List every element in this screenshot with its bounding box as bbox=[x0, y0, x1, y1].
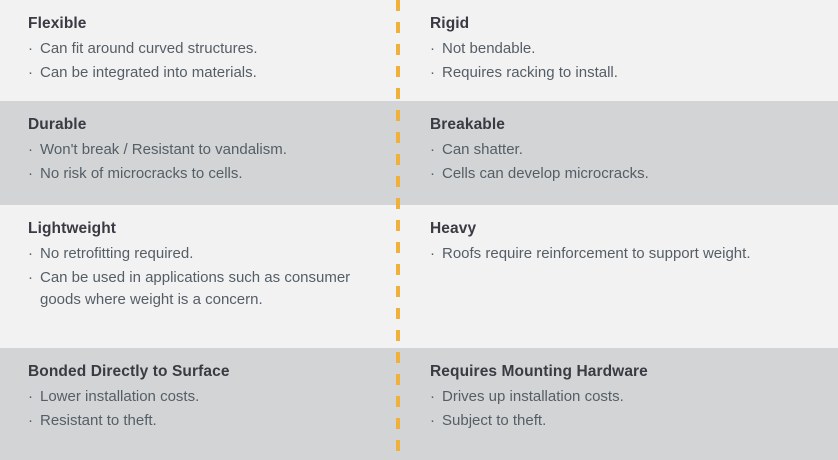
list-item-text: Can be integrated into materials. bbox=[40, 64, 257, 81]
bullet-list: ·Drives up installation costs. ·Subject … bbox=[430, 386, 814, 431]
list-item-text: Won't break / Resistant to vandalism. bbox=[40, 141, 287, 158]
list-item-text: Not bendable. bbox=[442, 40, 535, 57]
bullet-dot-icon: · bbox=[28, 139, 33, 161]
comparison-cell-left: Flexible ·Can fit around curved structur… bbox=[0, 0, 398, 101]
comparison-cell-left: Lightweight ·No retrofitting required. ·… bbox=[0, 205, 398, 348]
list-item: ·Lower installation costs. bbox=[28, 386, 376, 408]
comparison-table: Flexible ·Can fit around curved structur… bbox=[0, 0, 838, 460]
table-row: Bonded Directly to Surface ·Lower instal… bbox=[0, 348, 838, 460]
list-item-text: Subject to theft. bbox=[442, 412, 546, 429]
comparison-cell-left: Durable ·Won't break / Resistant to vand… bbox=[0, 101, 398, 205]
bullet-dot-icon: · bbox=[28, 38, 33, 60]
list-item: ·Drives up installation costs. bbox=[430, 386, 814, 408]
list-item: ·Subject to theft. bbox=[430, 410, 814, 432]
list-item: ·Can be integrated into materials. bbox=[28, 62, 376, 84]
bullet-dot-icon: · bbox=[28, 410, 33, 432]
bullet-dot-icon: · bbox=[430, 243, 435, 265]
list-item: ·Can fit around curved structures. bbox=[28, 38, 376, 60]
list-item-text: Can fit around curved structures. bbox=[40, 40, 258, 57]
bullet-list: ·Won't break / Resistant to vandalism. ·… bbox=[28, 139, 376, 184]
list-item: ·Won't break / Resistant to vandalism. bbox=[28, 139, 376, 161]
comparison-cell-right: Heavy ·Roofs require reinforcement to su… bbox=[398, 205, 838, 348]
list-item: ·Roofs require reinforcement to support … bbox=[430, 243, 814, 265]
bullet-list: ·No retrofitting required. ·Can be used … bbox=[28, 243, 376, 311]
list-item: ·Resistant to theft. bbox=[28, 410, 376, 432]
cell-title: Heavy bbox=[430, 219, 814, 238]
bullet-list: ·Can shatter. ·Cells can develop microcr… bbox=[430, 139, 814, 184]
list-item-text: Can be used in applications such as cons… bbox=[40, 269, 350, 308]
cell-title: Bonded Directly to Surface bbox=[28, 362, 376, 381]
list-item-text: Lower installation costs. bbox=[40, 388, 199, 405]
comparison-cell-right: Requires Mounting Hardware ·Drives up in… bbox=[398, 348, 838, 460]
list-item-text: No risk of microcracks to cells. bbox=[40, 165, 243, 182]
bullet-dot-icon: · bbox=[430, 139, 435, 161]
list-item: ·Requires racking to install. bbox=[430, 62, 814, 84]
table-row: Flexible ·Can fit around curved structur… bbox=[0, 0, 838, 101]
cell-title: Rigid bbox=[430, 14, 814, 33]
bullet-dot-icon: · bbox=[28, 243, 33, 265]
list-item: ·No risk of microcracks to cells. bbox=[28, 163, 376, 185]
bullet-dot-icon: · bbox=[430, 163, 435, 185]
bullet-dot-icon: · bbox=[430, 62, 435, 84]
list-item: ·Cells can develop microcracks. bbox=[430, 163, 814, 185]
bullet-dot-icon: · bbox=[28, 267, 33, 289]
comparison-cell-right: Rigid ·Not bendable. ·Requires racking t… bbox=[398, 0, 838, 101]
list-item-text: Drives up installation costs. bbox=[442, 388, 624, 405]
list-item: ·Not bendable. bbox=[430, 38, 814, 60]
bullet-dot-icon: · bbox=[28, 62, 33, 84]
list-item: ·No retrofitting required. bbox=[28, 243, 376, 265]
list-item: ·Can shatter. bbox=[430, 139, 814, 161]
bullet-list: ·Not bendable. ·Requires racking to inst… bbox=[430, 38, 814, 83]
list-item-text: Requires racking to install. bbox=[442, 64, 618, 81]
bullet-dot-icon: · bbox=[28, 386, 33, 408]
comparison-cell-right: Breakable ·Can shatter. ·Cells can devel… bbox=[398, 101, 838, 205]
bullet-dot-icon: · bbox=[28, 163, 33, 185]
list-item: ·Can be used in applications such as con… bbox=[28, 267, 376, 311]
list-item-text: Roofs require reinforcement to support w… bbox=[442, 245, 751, 262]
bullet-dot-icon: · bbox=[430, 38, 435, 60]
cell-title: Requires Mounting Hardware bbox=[430, 362, 814, 381]
bullet-dot-icon: · bbox=[430, 410, 435, 432]
list-item-text: Cells can develop microcracks. bbox=[442, 165, 649, 182]
bullet-dot-icon: · bbox=[430, 386, 435, 408]
list-item-text: Resistant to theft. bbox=[40, 412, 157, 429]
table-row: Lightweight ·No retrofitting required. ·… bbox=[0, 205, 838, 348]
cell-title: Lightweight bbox=[28, 219, 376, 238]
list-item-text: No retrofitting required. bbox=[40, 245, 193, 262]
cell-title: Durable bbox=[28, 115, 376, 134]
cell-title: Flexible bbox=[28, 14, 376, 33]
table-row: Durable ·Won't break / Resistant to vand… bbox=[0, 101, 838, 205]
bullet-list: ·Lower installation costs. ·Resistant to… bbox=[28, 386, 376, 431]
comparison-cell-left: Bonded Directly to Surface ·Lower instal… bbox=[0, 348, 398, 460]
bullet-list: ·Can fit around curved structures. ·Can … bbox=[28, 38, 376, 83]
cell-title: Breakable bbox=[430, 115, 814, 134]
bullet-list: ·Roofs require reinforcement to support … bbox=[430, 243, 814, 265]
list-item-text: Can shatter. bbox=[442, 141, 523, 158]
